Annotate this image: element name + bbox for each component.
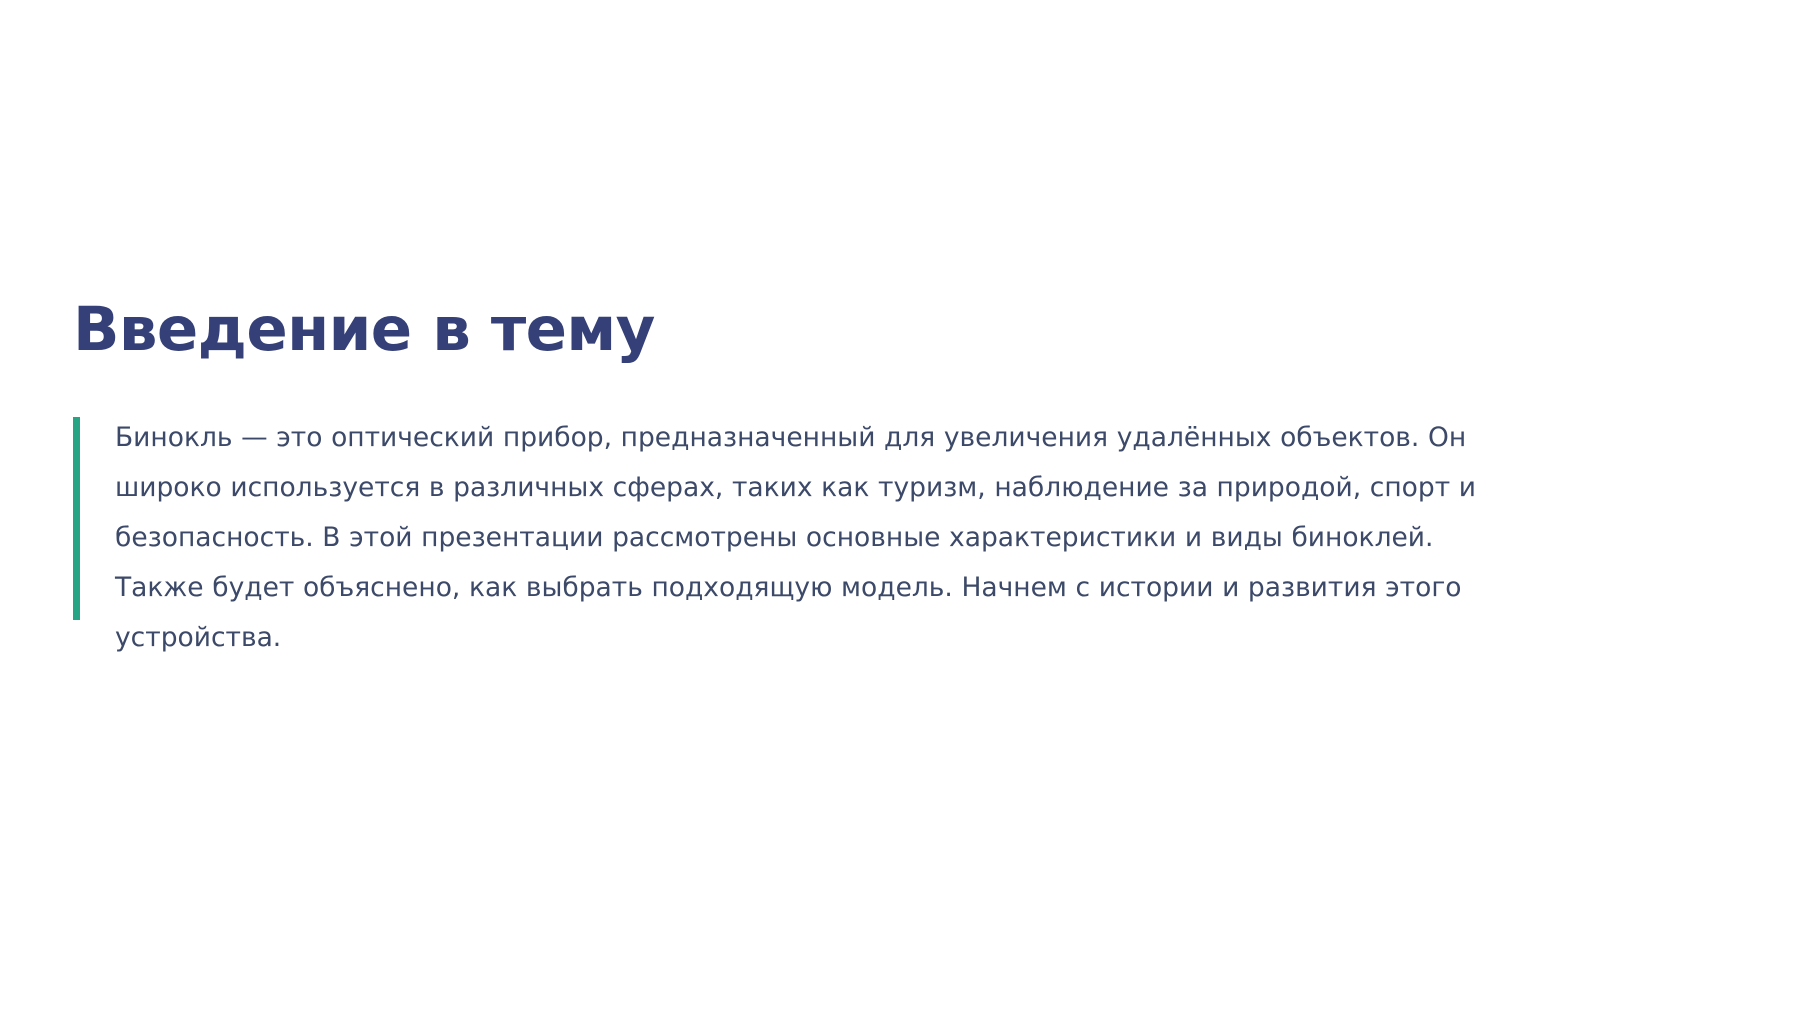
body-block: Бинокль — это оптический прибор, предназ… — [73, 413, 1733, 663]
presentation-slide: Введение в тему Бинокль — это оптический… — [0, 0, 1800, 1013]
slide-content: Введение в тему Бинокль — это оптический… — [73, 296, 1733, 663]
body-paragraph: Бинокль — это оптический прибор, предназ… — [115, 413, 1490, 663]
page-title: Введение в тему — [73, 296, 1733, 364]
accent-bar — [73, 417, 80, 620]
